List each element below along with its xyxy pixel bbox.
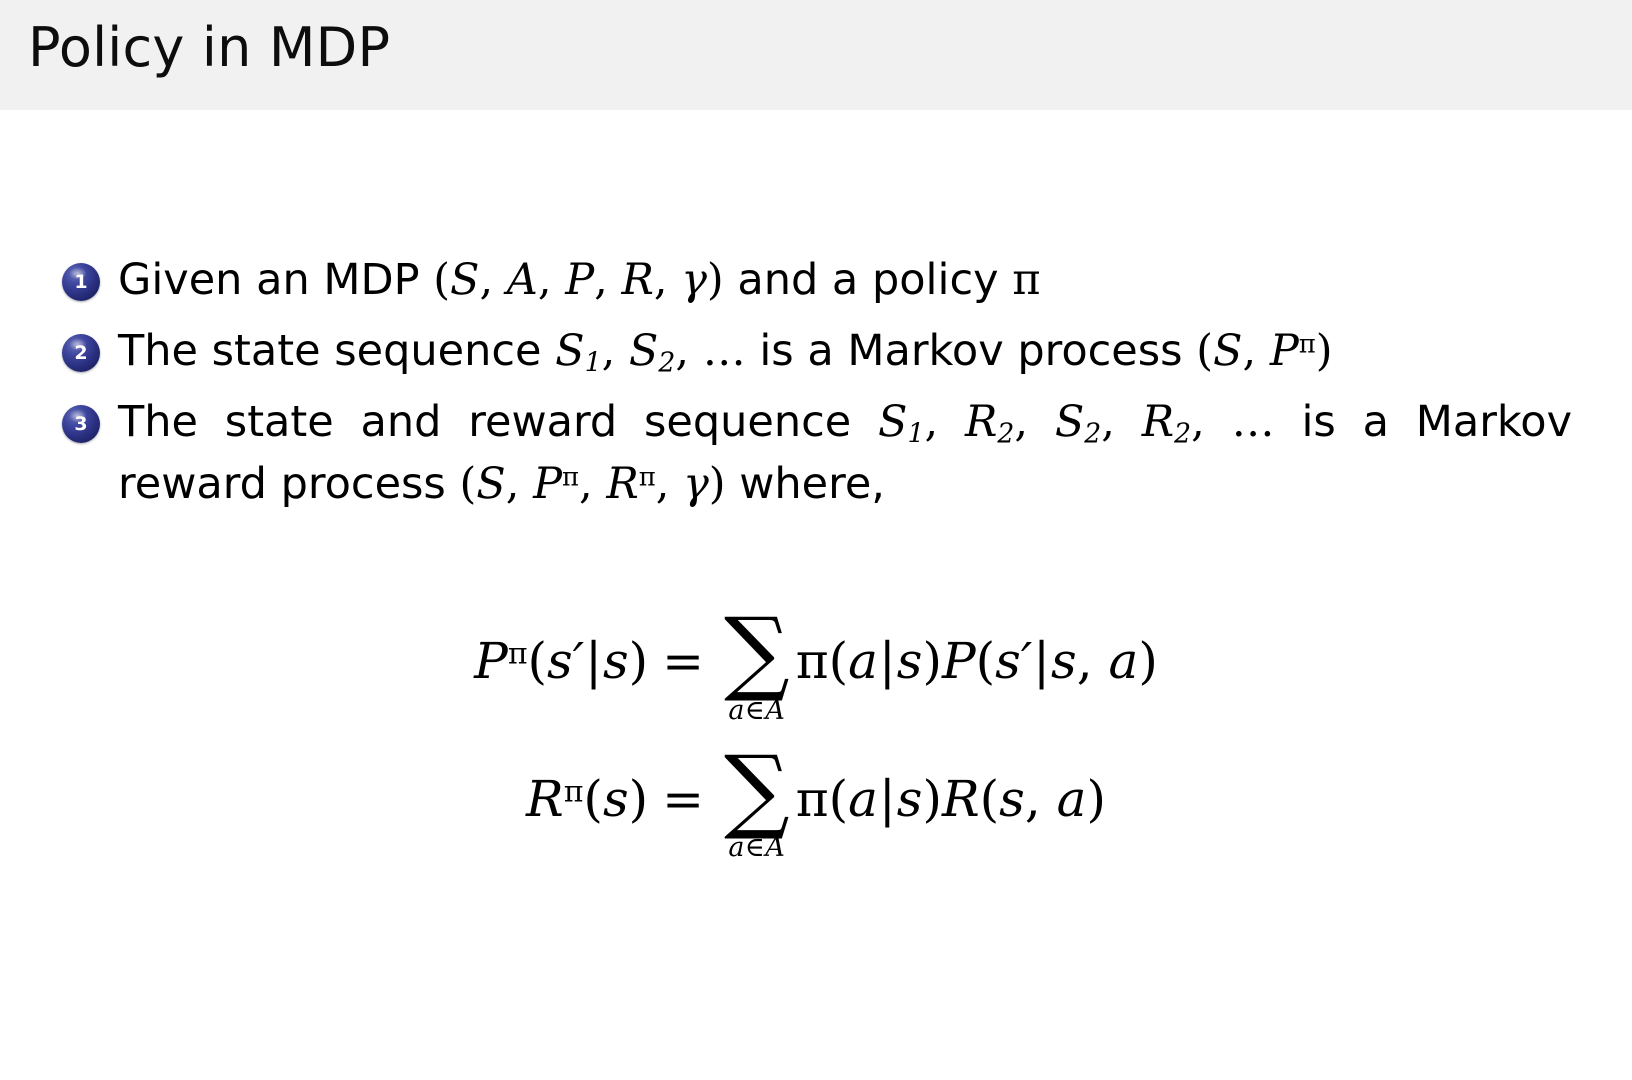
- item1-comma2: ,: [538, 255, 552, 305]
- enum-bullet-2-icon: 2: [62, 334, 100, 372]
- item1-gamma: γ: [681, 255, 707, 305]
- list-item-text: The state sequence S1, S2, … is a Markov…: [118, 321, 1572, 382]
- item2-sym-s: S: [1213, 326, 1242, 376]
- sigma-icon: ∑: [724, 748, 790, 833]
- eq2-rhs-a: a: [848, 770, 878, 828]
- item1-sym-p: P: [565, 255, 594, 305]
- eq1-rhs-s1: s: [897, 632, 923, 690]
- item3-ellipsis: …: [1232, 397, 1275, 447]
- item3-sub-s2: 2: [1084, 419, 1101, 450]
- list-item-text: Given an MDP (S, A, P, R, γ) and a polic…: [118, 250, 1572, 311]
- item3-sup-pi2: π: [639, 462, 656, 492]
- eq1-rhs-open2: (: [976, 632, 996, 690]
- item3-sym-p: P: [533, 459, 562, 509]
- item2-sub2: 2: [658, 347, 675, 378]
- item3-sym-r2b: R: [1142, 397, 1174, 447]
- eq2-sum-subscript: a∈A: [728, 834, 785, 861]
- eq2-rhs-close1: ): [922, 770, 942, 828]
- eq1-rhs-sym-p: P: [942, 632, 976, 690]
- eq1-rhs-bar2: |: [1032, 632, 1051, 690]
- item3-comma3: ,: [1101, 397, 1115, 447]
- item1-sym-a: A: [507, 255, 538, 305]
- item3-lead: The state and reward sequence: [118, 397, 851, 447]
- transition-equation: Pπ(s′|s) = ∑ a∈A π(a|s)P(s′|s, a): [0, 610, 1632, 724]
- enum-bullet-number: 1: [74, 273, 87, 292]
- eq2-lhs-sym: R: [526, 770, 564, 828]
- slide-body: 1 Given an MDP (S, A, P, R, γ) and a pol…: [0, 110, 1632, 1080]
- item2-mid: is a Markov process: [759, 326, 1182, 376]
- eq1-rhs-s3: s: [1051, 632, 1077, 690]
- item1-mid: and a policy: [737, 255, 998, 305]
- eq1-summation: ∑ a∈A: [724, 610, 790, 724]
- eq1-lhs-open: (: [528, 632, 548, 690]
- item1-comma4: ,: [654, 255, 668, 305]
- enum-bullet-3-icon: 3: [62, 405, 100, 443]
- eq2-lhs: Rπ(s): [526, 748, 648, 828]
- eq1-lhs-sym: P: [474, 632, 508, 690]
- eq1-lhs-close: ): [629, 632, 649, 690]
- eq2-relation: =: [648, 748, 718, 828]
- item2-tuple-open: (: [1196, 326, 1213, 376]
- item2-lead: The state sequence: [118, 326, 541, 376]
- element-of-icon: ∈: [745, 832, 766, 863]
- item3-sub-r2b: 2: [1174, 419, 1191, 450]
- item3-gamma: γ: [683, 459, 709, 509]
- item3-comma1: ,: [924, 397, 938, 447]
- eq1-sum-var: a: [728, 695, 745, 726]
- item2-sym-s1: S: [555, 326, 584, 376]
- item1-comma3: ,: [594, 255, 608, 305]
- eq1-lhs: Pπ(s′|s): [474, 610, 648, 690]
- eq2-lhs-arg1: s: [603, 770, 629, 828]
- eq1-rhs-close2: ): [1138, 632, 1158, 690]
- item1-sym-r: R: [621, 255, 653, 305]
- item2-comma2: ,: [675, 326, 689, 376]
- item3-tuple-open: (: [460, 459, 477, 509]
- eq2-rhs-comma: ,: [1025, 770, 1041, 828]
- eq2-lhs-close: ): [629, 770, 649, 828]
- eq1-rhs-comma: ,: [1077, 632, 1093, 690]
- list-item-text: The state and reward sequence S1, R2, S2…: [118, 392, 1572, 514]
- enum-bullet-number: 3: [74, 415, 87, 434]
- enumerated-list: 1 Given an MDP (S, A, P, R, γ) and a pol…: [62, 250, 1572, 525]
- eq1-rhs-bar1: |: [878, 632, 897, 690]
- eq2-sum-set: A: [765, 832, 785, 863]
- eq2-summation: ∑ a∈A: [724, 748, 790, 862]
- eq1-rhs-s2: s: [995, 632, 1021, 690]
- item3-sym-r2: R: [965, 397, 997, 447]
- item3-sym-r: R: [606, 459, 638, 509]
- eq2-rhs-open2: (: [980, 770, 1000, 828]
- eq1-lhs-arg2: s: [603, 632, 629, 690]
- enum-bullet-number: 2: [74, 344, 87, 363]
- item3-sub-r2: 2: [997, 419, 1014, 450]
- eq1-sum-subscript: a∈A: [728, 697, 785, 724]
- item3-tuple-close: ): [709, 459, 726, 509]
- item1-pi: π: [1012, 255, 1040, 305]
- item3-sym-s: S: [476, 459, 505, 509]
- item3-sym-s1: S: [878, 397, 907, 447]
- item2-tuple-close: ): [1316, 326, 1333, 376]
- eq1-rhs-pi: π: [796, 632, 829, 690]
- enum-bullet-1-icon: 1: [62, 263, 100, 301]
- eq2-rhs-pi: π: [796, 770, 829, 828]
- item3-comma5: ,: [506, 459, 520, 509]
- item1-comma1: ,: [479, 255, 493, 305]
- eq1-rhs-prime: ′: [1021, 632, 1032, 690]
- item2-sup-pi: π: [1299, 330, 1316, 360]
- reward-equation: Rπ(s) = ∑ a∈A π(a|s)R(s, a): [0, 748, 1632, 862]
- list-item: 2 The state sequence S1, S2, … is a Mark…: [62, 321, 1572, 382]
- item2-sym-s2: S: [629, 326, 658, 376]
- eq1-rhs-close1: ): [922, 632, 942, 690]
- eq2-sum-var: a: [728, 832, 745, 863]
- eq2-rhs-sym-r: R: [942, 770, 980, 828]
- item2-comma3: ,: [1242, 326, 1256, 376]
- eq2-rhs-s1: s: [897, 770, 923, 828]
- eq1-lhs-prime: ′: [573, 632, 584, 690]
- eq2-rhs-close2: ): [1086, 770, 1106, 828]
- item2-comma1: ,: [602, 326, 616, 376]
- eq2-rhs-bar1: |: [878, 770, 897, 828]
- eq2-rhs-open1: (: [829, 770, 849, 828]
- eq2-lhs-sup-pi: π: [564, 774, 584, 809]
- item3-tail: where,: [739, 459, 885, 509]
- item3-comma6: ,: [579, 459, 593, 509]
- eq1-lhs-arg1: s: [547, 632, 573, 690]
- eq1-rhs-a: a: [848, 632, 878, 690]
- display-equations: Pπ(s′|s) = ∑ a∈A π(a|s)P(s′|s, a) Rπ(s) …: [0, 610, 1632, 885]
- slide-title-bar: Policy in MDP: [0, 0, 1632, 110]
- item3-sym-s2: S: [1055, 397, 1084, 447]
- element-of-icon: ∈: [745, 695, 766, 726]
- list-item: 1 Given an MDP (S, A, P, R, γ) and a pol…: [62, 250, 1572, 311]
- item1-tuple-open: (: [433, 255, 450, 305]
- eq1-relation: =: [648, 610, 718, 690]
- item3-sup-pi1: π: [562, 462, 579, 492]
- sigma-icon: ∑: [724, 610, 790, 695]
- eq1-rhs-open1: (: [829, 632, 849, 690]
- item1-lead: Given an MDP: [118, 255, 420, 305]
- eq2-rhs-s2: s: [999, 770, 1025, 828]
- item3-comma4: ,: [1191, 397, 1205, 447]
- eq1-lhs-sup-pi: π: [508, 637, 528, 672]
- item3-comma2: ,: [1014, 397, 1028, 447]
- eq1-lhs-bar: |: [584, 632, 603, 690]
- item2-sub1: 1: [585, 347, 602, 378]
- eq1-rhs: π(a|s)P(s′|s, a): [796, 610, 1158, 690]
- list-item: 3 The state and reward sequence S1, R2, …: [62, 392, 1572, 514]
- item2-ellipsis: …: [703, 326, 746, 376]
- eq1-sum-set: A: [765, 695, 785, 726]
- item1-tuple-close: ): [707, 255, 724, 305]
- item3-sub-s1: 1: [908, 419, 925, 450]
- eq2-lhs-open: (: [583, 770, 603, 828]
- page-title: Policy in MDP: [28, 16, 390, 79]
- eq1-rhs-a2: a: [1109, 632, 1139, 690]
- item2-sym-p: P: [1270, 326, 1299, 376]
- eq2-rhs: π(a|s)R(s, a): [796, 748, 1106, 828]
- eq2-rhs-a2: a: [1057, 770, 1087, 828]
- item1-sym-s: S: [450, 255, 479, 305]
- item3-comma7: ,: [656, 459, 670, 509]
